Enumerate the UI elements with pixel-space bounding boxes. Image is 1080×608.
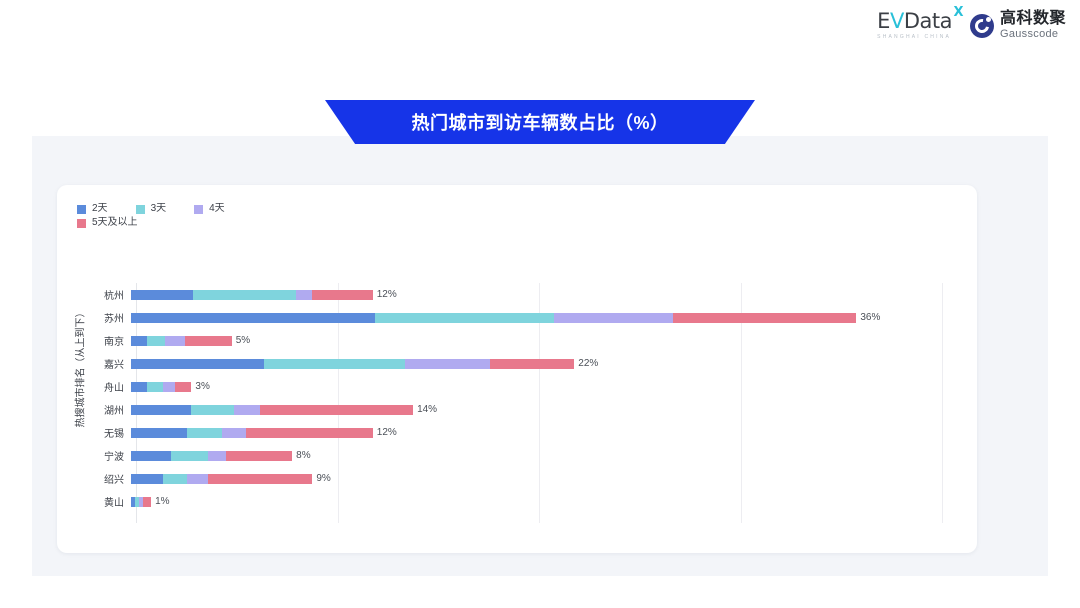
chart-title: 热门城市到访车辆数占比（%）	[411, 109, 668, 135]
bar-segment-3天[interactable]	[147, 382, 163, 392]
stacked-bar[interactable]	[131, 474, 312, 484]
bar-segment-2天[interactable]	[131, 336, 147, 346]
category-label-苏州: 苏州	[57, 310, 131, 325]
stacked-bar[interactable]	[131, 290, 373, 300]
chart-title-banner: 热门城市到访车辆数占比（%）	[325, 100, 755, 144]
bar-value-label: 5%	[236, 336, 250, 346]
bar-segment-3天[interactable]	[264, 359, 405, 369]
bar-segment-4天[interactable]	[296, 290, 312, 300]
bar-wrapper: 5%	[131, 336, 250, 346]
bar-segment-4天[interactable]	[187, 474, 207, 484]
bar-segment-2天[interactable]	[131, 428, 187, 438]
bar-segment-3天[interactable]	[147, 336, 165, 346]
bar-segment-3天[interactable]	[187, 428, 221, 438]
bar-segment-4天[interactable]	[163, 382, 175, 392]
bar-wrapper: 8%	[131, 451, 311, 461]
bar-segment-2天[interactable]	[131, 313, 375, 323]
stacked-bar[interactable]	[131, 405, 413, 415]
bar-segment-5天及以上[interactable]	[490, 359, 575, 369]
chart-row[interactable]: 嘉兴22%	[57, 352, 977, 375]
chart-row[interactable]: 南京5%	[57, 329, 977, 352]
bar-wrapper: 3%	[131, 382, 210, 392]
bar-wrapper: 36%	[131, 313, 880, 323]
gausscode-name-cn: 高科数聚	[1000, 11, 1066, 27]
bar-value-label: 12%	[377, 290, 397, 300]
bar-segment-2天[interactable]	[131, 359, 264, 369]
category-label-绍兴: 绍兴	[57, 471, 131, 486]
bar-segment-3天[interactable]	[375, 313, 554, 323]
category-label-宁波: 宁波	[57, 448, 131, 463]
bar-segment-2天[interactable]	[131, 290, 193, 300]
evdata-letter-data: Data	[904, 9, 952, 33]
bar-value-label: 36%	[860, 313, 880, 323]
bar-segment-5天及以上[interactable]	[143, 497, 151, 507]
chart-row[interactable]: 苏州36%	[57, 306, 977, 329]
gausscode-mark-icon	[970, 14, 994, 38]
chart-plot-area: 热搜城市排名（从上到下） 杭州12%苏州36%南京5%嘉兴22%舟山3%湖州14…	[57, 185, 977, 553]
bar-segment-4天[interactable]	[165, 336, 185, 346]
chart-row[interactable]: 舟山3%	[57, 375, 977, 398]
evdata-letter-v: V	[890, 9, 904, 33]
chart-row[interactable]: 杭州12%	[57, 283, 977, 306]
bar-value-label: 14%	[417, 405, 437, 415]
bar-segment-5天及以上[interactable]	[226, 451, 292, 461]
stacked-bar[interactable]	[131, 428, 373, 438]
bar-value-label: 9%	[316, 474, 330, 484]
chart-card: 2天3天4天5天及以上 热搜城市排名（从上到下） 杭州12%苏州36%南京5%嘉…	[57, 185, 977, 553]
category-label-无锡: 无锡	[57, 425, 131, 440]
bar-segment-2天[interactable]	[131, 451, 171, 461]
bar-segment-4天[interactable]	[554, 313, 673, 323]
bar-wrapper: 14%	[131, 405, 437, 415]
gausscode-logo: 高科数聚 Gausscode	[970, 11, 1066, 40]
bar-wrapper: 9%	[131, 474, 331, 484]
logo-group: EVData X SHANGHAI CHINA 高科数聚 Gausscode	[877, 11, 1066, 40]
evdata-superscript-x: X	[953, 6, 963, 19]
bar-value-label: 3%	[195, 382, 209, 392]
bar-value-label: 1%	[155, 497, 169, 507]
bar-wrapper: 22%	[131, 359, 598, 369]
category-label-南京: 南京	[57, 333, 131, 348]
chart-row[interactable]: 宁波8%	[57, 444, 977, 467]
category-label-湖州: 湖州	[57, 402, 131, 417]
chart-row[interactable]: 绍兴9%	[57, 467, 977, 490]
chart-bars: 杭州12%苏州36%南京5%嘉兴22%舟山3%湖州14%无锡12%宁波8%绍兴9…	[57, 283, 977, 513]
bar-segment-3天[interactable]	[163, 474, 187, 484]
category-label-舟山: 舟山	[57, 379, 131, 394]
bar-segment-5天及以上[interactable]	[208, 474, 313, 484]
chart-row[interactable]: 湖州14%	[57, 398, 977, 421]
category-label-嘉兴: 嘉兴	[57, 356, 131, 371]
bar-wrapper: 1%	[131, 497, 170, 507]
category-label-黄山: 黄山	[57, 494, 131, 509]
bar-segment-5天及以上[interactable]	[246, 428, 373, 438]
bar-segment-4天[interactable]	[234, 405, 260, 415]
chart-row[interactable]: 黄山1%	[57, 490, 977, 513]
evdata-wordmark: EVData X	[877, 11, 952, 32]
category-label-杭州: 杭州	[57, 287, 131, 302]
bar-segment-3天[interactable]	[193, 290, 296, 300]
chart-row[interactable]: 无锡12%	[57, 421, 977, 444]
bar-value-label: 22%	[578, 359, 598, 369]
stacked-bar[interactable]	[131, 451, 292, 461]
evdata-letter-e: E	[877, 9, 890, 33]
bar-segment-5天及以上[interactable]	[673, 313, 856, 323]
stacked-bar[interactable]	[131, 382, 191, 392]
bar-segment-4天[interactable]	[208, 451, 226, 461]
logo-bar: EVData X SHANGHAI CHINA 高科数聚 Gausscode	[0, 0, 1080, 58]
gausscode-name-en: Gausscode	[1000, 29, 1066, 40]
bar-wrapper: 12%	[131, 290, 397, 300]
bar-value-label: 12%	[377, 428, 397, 438]
slide-page: EVData X SHANGHAI CHINA 高科数聚 Gausscode 热…	[0, 0, 1080, 608]
bar-segment-4天[interactable]	[222, 428, 246, 438]
bar-wrapper: 12%	[131, 428, 397, 438]
bar-segment-3天[interactable]	[191, 405, 233, 415]
bar-segment-4天[interactable]	[405, 359, 490, 369]
bar-segment-2天[interactable]	[131, 382, 147, 392]
stacked-bar[interactable]	[131, 313, 856, 323]
gausscode-text: 高科数聚 Gausscode	[1000, 11, 1066, 40]
bar-segment-3天[interactable]	[171, 451, 207, 461]
bar-segment-5天及以上[interactable]	[312, 290, 372, 300]
bar-segment-2天[interactable]	[131, 405, 191, 415]
bar-segment-5天及以上[interactable]	[175, 382, 191, 392]
bar-segment-5天及以上[interactable]	[260, 405, 413, 415]
stacked-bar[interactable]	[131, 497, 151, 507]
evdata-tagline: SHANGHAI CHINA	[877, 34, 951, 40]
stacked-bar[interactable]	[131, 359, 574, 369]
bar-segment-5天及以上[interactable]	[185, 336, 231, 346]
bar-value-label: 8%	[296, 451, 310, 461]
evdata-logo: EVData X SHANGHAI CHINA	[877, 11, 952, 40]
stacked-bar[interactable]	[131, 336, 232, 346]
bar-segment-2天[interactable]	[131, 474, 163, 484]
